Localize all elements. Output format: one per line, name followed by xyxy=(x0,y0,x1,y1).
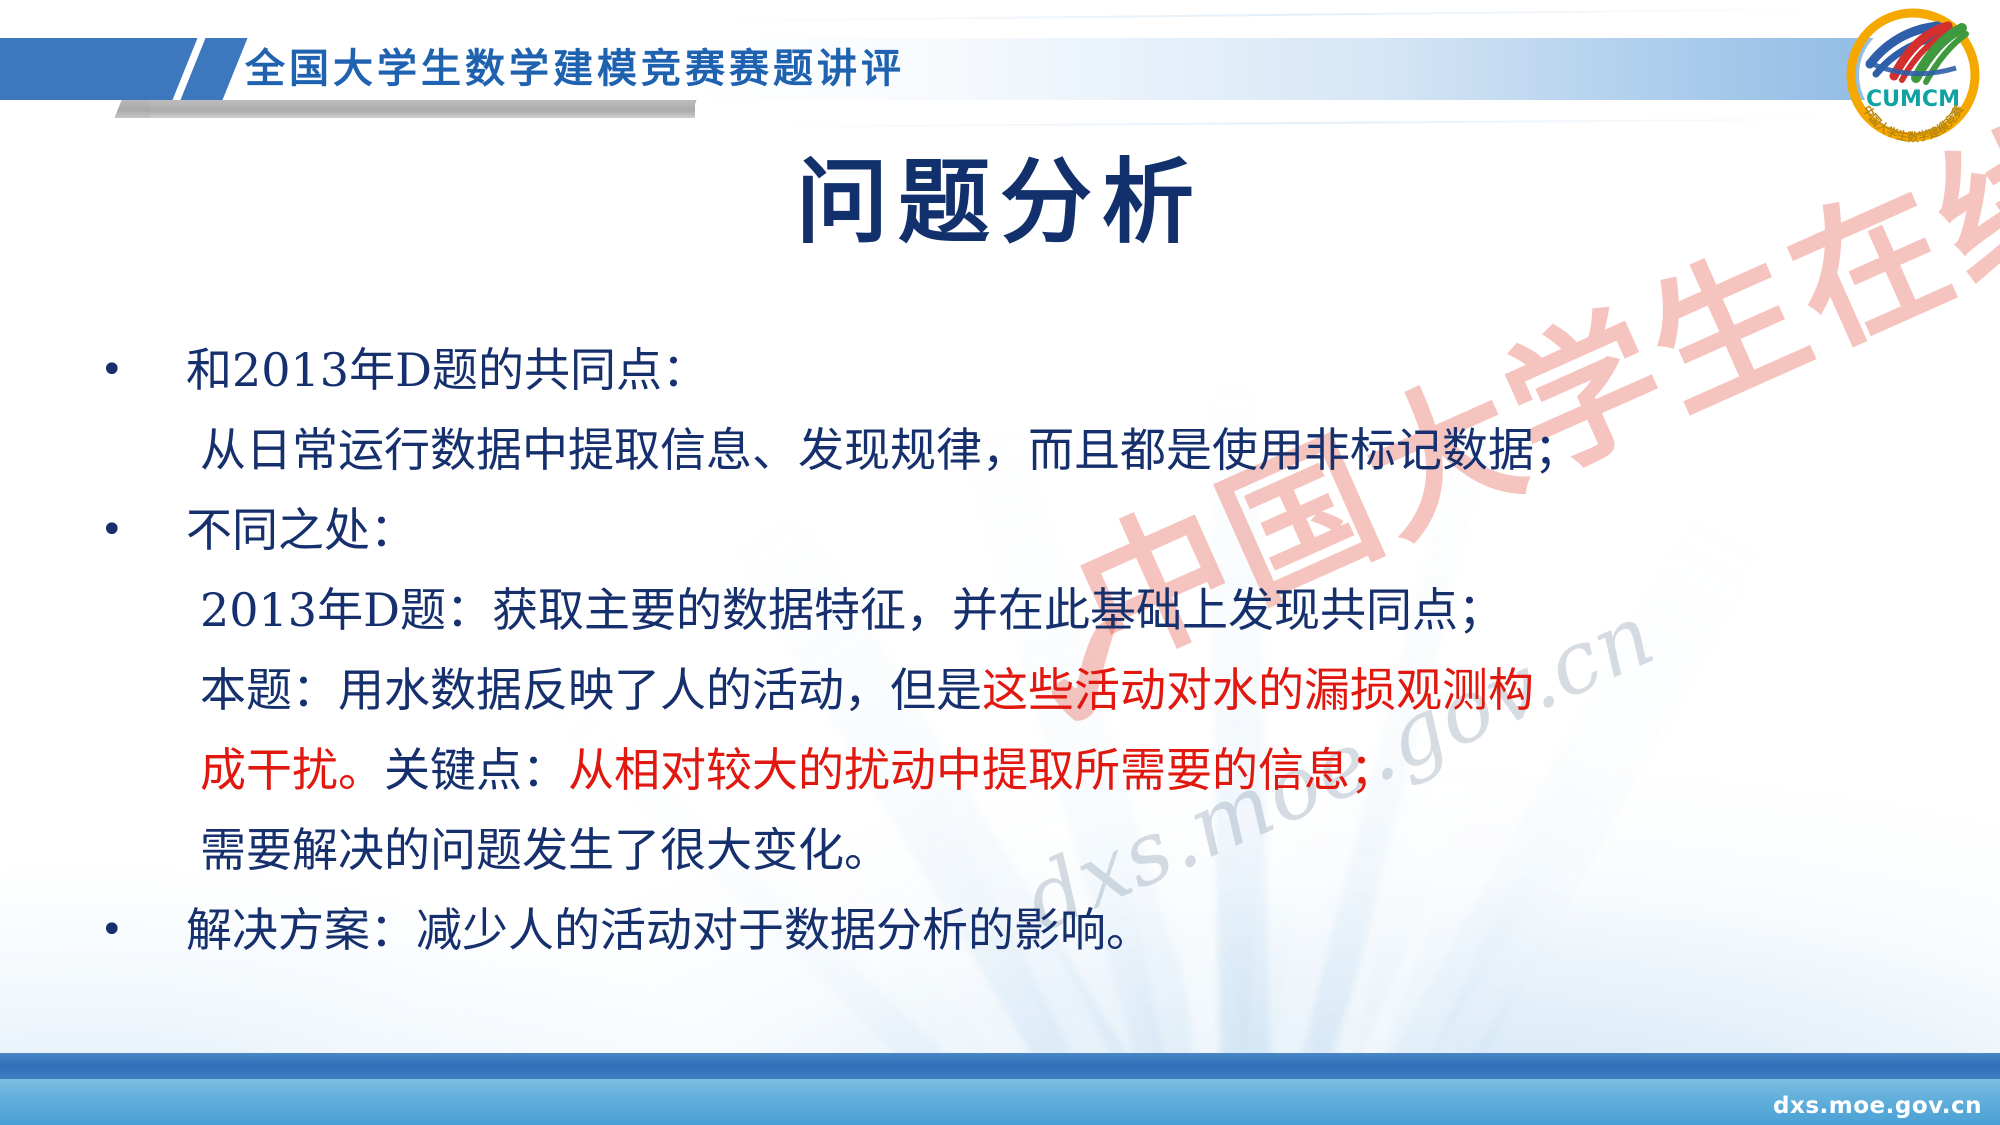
body-line-text: 2013年D题：获取主要的数据特征，并在此基础上发现共同点； xyxy=(100,570,1504,650)
bullet-marker: • xyxy=(100,890,170,970)
footer-plate xyxy=(0,1079,2000,1125)
body-line: •和2013年D题的共同点： xyxy=(100,330,1930,410)
highlight-text-run: 成干扰。 xyxy=(200,743,384,797)
page-title: 问题分析 xyxy=(0,128,2000,261)
body-line: •不同之处： xyxy=(100,490,1930,570)
slide-body: •和2013年D题的共同点：从日常运行数据中提取信息、发现规律，而且都是使用非标… xyxy=(100,330,1930,970)
body-line-text: 解决方案：减少人的活动对于数据分析的影响。 xyxy=(100,890,1152,970)
cumcm-logo-acronym: CUMCM xyxy=(1866,87,1960,112)
body-line: •解决方案：减少人的活动对于数据分析的影响。 xyxy=(100,890,1930,970)
text-run: 2013年D题：获取主要的数据特征，并在此基础上发现共同点； xyxy=(200,583,1504,637)
text-run: 从日常运行数据中提取信息、发现规律，而且都是使用非标记数据； xyxy=(200,423,1580,477)
text-run: 需要解决的问题发生了很大变化。 xyxy=(200,823,890,877)
bullet-marker: • xyxy=(100,490,170,570)
body-line: 成干扰。关键点：从相对较大的扰动中提取所需要的信息； xyxy=(100,730,1930,810)
footer-url: dxs.moe.gov.cn xyxy=(1773,1093,1982,1119)
slide-canvas: 全国大学生数学建模竞赛赛题讲评 CUMCM 中国大学生 xyxy=(0,0,2000,1125)
text-run: 本题：用水数据反映了人的活动，但是 xyxy=(200,663,982,717)
body-line: 本题：用水数据反映了人的活动，但是这些活动对水的漏损观测构 xyxy=(100,650,1930,730)
body-line-text: 需要解决的问题发生了很大变化。 xyxy=(100,810,890,890)
body-line-text: 成干扰。关键点：从相对较大的扰动中提取所需要的信息； xyxy=(100,730,1396,810)
bullet-marker: • xyxy=(100,330,170,410)
footer-band xyxy=(0,1053,2000,1079)
header-gray-underbar xyxy=(150,100,695,118)
body-line-text: 本题：用水数据反映了人的活动，但是这些活动对水的漏损观测构 xyxy=(100,650,1534,730)
body-line: 需要解决的问题发生了很大变化。 xyxy=(100,810,1930,890)
body-line: 2013年D题：获取主要的数据特征，并在此基础上发现共同点； xyxy=(100,570,1930,650)
text-run: 不同之处： xyxy=(186,503,416,557)
highlight-text-run: 从相对较大的扰动中提取所需要的信息； xyxy=(568,743,1396,797)
body-line-text: 从日常运行数据中提取信息、发现规律，而且都是使用非标记数据； xyxy=(100,410,1580,490)
text-run: 关键点： xyxy=(384,743,568,797)
body-line-text: 和2013年D题的共同点： xyxy=(100,330,708,410)
body-line: 从日常运行数据中提取信息、发现规律，而且都是使用非标记数据； xyxy=(100,410,1930,490)
header-title: 全国大学生数学建模竞赛赛题讲评 xyxy=(245,36,905,102)
text-run: 和2013年D题的共同点： xyxy=(186,343,708,397)
highlight-text-run: 这些活动对水的漏损观测构 xyxy=(982,663,1534,717)
text-run: 解决方案：减少人的活动对于数据分析的影响。 xyxy=(186,903,1152,957)
